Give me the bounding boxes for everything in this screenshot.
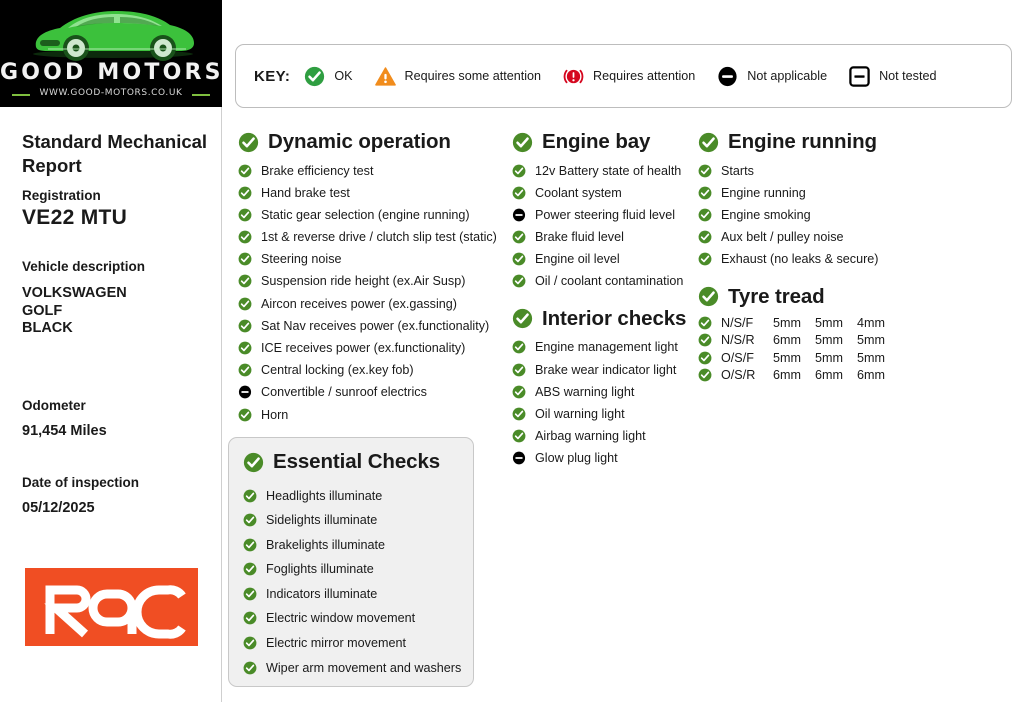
tyre-tread-row: O/S/R6mm6mm6mm bbox=[698, 368, 998, 382]
checklist-item-label: Wiper arm movement and washers bbox=[266, 661, 461, 675]
checklist-item: Brake wear indicator light bbox=[512, 360, 702, 379]
sidebar: GOOD MOTORS WWW.GOOD-MOTORS.CO.UK Standa… bbox=[0, 0, 222, 702]
checklist-engine-bay: 12v Battery state of healthCoolant syste… bbox=[512, 161, 702, 291]
brake-warning-icon bbox=[563, 66, 584, 87]
tyre-position-label: O/S/F bbox=[721, 351, 773, 365]
key-item-not-applicable: Not applicable bbox=[717, 66, 827, 87]
tyre-position-label: N/S/F bbox=[721, 316, 773, 330]
checklist-item-label: Oil / coolant contamination bbox=[535, 274, 683, 288]
key-legend: KEY: OKRequires some attentionRequires a… bbox=[235, 44, 1012, 108]
panel-essential-checks: Essential Checks Headlights illuminateSi… bbox=[228, 437, 474, 687]
key-label: KEY: bbox=[254, 68, 290, 85]
checklist-item: Hand brake test bbox=[238, 183, 500, 202]
section-header: Interior checks bbox=[512, 307, 702, 331]
checklist-item-label: 12v Battery state of health bbox=[535, 164, 681, 178]
checklist-item: Exhaust (no leaks & secure) bbox=[698, 250, 998, 269]
checklist-item-label: Indicators illuminate bbox=[266, 587, 377, 601]
check-circle-icon bbox=[512, 252, 526, 266]
tyre-tread-row: O/S/F5mm5mm5mm bbox=[698, 351, 998, 365]
check-circle-icon bbox=[243, 587, 257, 601]
tyre-depth-inner: 6mm bbox=[857, 368, 899, 382]
section-title: Dynamic operation bbox=[268, 130, 451, 154]
section-status-icon bbox=[512, 132, 533, 153]
check-circle-icon bbox=[512, 407, 526, 421]
section-header: Essential Checks bbox=[243, 450, 473, 474]
section-status-icon bbox=[243, 452, 264, 473]
check-circle-icon bbox=[238, 186, 252, 200]
section-status-icon bbox=[698, 286, 719, 307]
checklist-item-label: Engine running bbox=[721, 186, 806, 200]
inspection-date-value: 05/12/2025 bbox=[22, 500, 95, 518]
check-circle-icon bbox=[243, 452, 264, 473]
checklist-item: Engine running bbox=[698, 183, 998, 202]
tyre-tread-row: N/S/R6mm5mm5mm bbox=[698, 333, 998, 347]
section-header: Dynamic operation bbox=[238, 130, 500, 154]
check-circle-icon bbox=[238, 319, 252, 333]
checklist-item: Wiper arm movement and washers bbox=[243, 658, 473, 677]
rac-logo bbox=[25, 568, 198, 646]
check-circle-icon bbox=[512, 132, 533, 153]
minus-square-icon bbox=[849, 66, 870, 87]
checklist-item-label: Brake fluid level bbox=[535, 230, 624, 244]
tyre-depth-outer: 6mm bbox=[773, 333, 815, 347]
check-circle-icon bbox=[238, 208, 252, 222]
check-circle-icon bbox=[243, 489, 257, 503]
checklist-item: Sat Nav receives power (ex.functionality… bbox=[238, 316, 500, 335]
tyre-position-label: N/S/R bbox=[721, 333, 773, 347]
check-circle-icon bbox=[698, 333, 712, 347]
checklist-item: 12v Battery state of health bbox=[512, 161, 702, 180]
check-circle-icon bbox=[698, 252, 712, 266]
check-circle-icon bbox=[238, 230, 252, 244]
tyre-depth-outer: 5mm bbox=[773, 316, 815, 330]
check-circle-icon bbox=[698, 286, 719, 307]
checklist-item: Oil / coolant contamination bbox=[512, 272, 702, 291]
check-circle-icon bbox=[698, 230, 712, 244]
checklist-item-label: Engine management light bbox=[535, 340, 678, 354]
checklist-item: Sidelights illuminate bbox=[243, 511, 473, 530]
checklist-item: Brake fluid level bbox=[512, 228, 702, 247]
checklist-item: Engine management light bbox=[512, 338, 702, 357]
checklist-item-label: Aux belt / pulley noise bbox=[721, 230, 844, 244]
check-circle-icon bbox=[243, 513, 257, 527]
checklist-item-label: Brakelights illuminate bbox=[266, 538, 385, 552]
checklist-item: Starts bbox=[698, 161, 998, 180]
check-circle-icon bbox=[243, 538, 257, 552]
check-circle-icon bbox=[238, 164, 252, 178]
checklist-item-label: Electric window movement bbox=[266, 611, 415, 625]
checklist-item: Suspension ride height (ex.Air Susp) bbox=[238, 272, 500, 291]
odometer-value: 91,454 Miles bbox=[22, 423, 107, 441]
section-interior-checks: Interior checks Engine management lightB… bbox=[512, 307, 702, 468]
checklist-item-label: Static gear selection (engine running) bbox=[261, 208, 470, 222]
minus-circle-icon bbox=[717, 66, 738, 87]
check-circle-icon bbox=[238, 408, 252, 422]
checklist-item: Aircon receives power (ex.gassing) bbox=[238, 294, 500, 313]
checklist-item-label: Sat Nav receives power (ex.functionality… bbox=[261, 319, 489, 333]
section-tyre-tread: Tyre tread N/S/F5mm5mm4mmN/S/R6mm5mm5mmO… bbox=[698, 285, 998, 383]
checklist-item: Engine oil level bbox=[512, 250, 702, 269]
section-engine-running: Engine running StartsEngine runningEngin… bbox=[698, 130, 998, 269]
check-circle-icon bbox=[304, 66, 325, 87]
checklist-item: Aux belt / pulley noise bbox=[698, 228, 998, 247]
checklist-item-label: ABS warning light bbox=[535, 385, 634, 399]
check-circle-icon bbox=[243, 661, 257, 675]
checklist-item: Airbag warning light bbox=[512, 427, 702, 446]
column-dynamic-operation: Dynamic operation Brake efficiency testH… bbox=[238, 130, 500, 438]
check-circle-icon bbox=[512, 340, 526, 354]
checklist-item-label: Aircon receives power (ex.gassing) bbox=[261, 297, 457, 311]
check-circle-icon bbox=[512, 186, 526, 200]
checklist-dynamic: Brake efficiency testHand brake testStat… bbox=[238, 161, 500, 424]
check-circle-icon bbox=[243, 611, 257, 625]
check-circle-icon bbox=[698, 351, 712, 365]
section-header: Engine bay bbox=[512, 130, 702, 154]
brand-logo-block: GOOD MOTORS WWW.GOOD-MOTORS.CO.UK bbox=[0, 0, 222, 107]
check-circle-icon bbox=[512, 385, 526, 399]
odometer-label: Odometer bbox=[22, 398, 86, 413]
key-items: OKRequires some attentionRequires attent… bbox=[304, 66, 958, 87]
minus-circle-icon bbox=[238, 385, 252, 399]
checklist-item-label: Glow plug light bbox=[535, 451, 618, 465]
check-circle-icon bbox=[512, 429, 526, 443]
checklist-item: Electric window movement bbox=[243, 609, 473, 628]
minus-circle-icon bbox=[512, 208, 526, 222]
registration-value: VE22 MTU bbox=[22, 206, 127, 230]
check-circle-icon bbox=[512, 164, 526, 178]
checklist-item: Horn bbox=[238, 405, 500, 424]
checklist-item: Coolant system bbox=[512, 183, 702, 202]
key-item-label: OK bbox=[334, 69, 352, 83]
tyre-tread-row: N/S/F5mm5mm4mm bbox=[698, 316, 998, 330]
tyre-depth-inner: 5mm bbox=[857, 333, 899, 347]
section-engine-bay: Engine bay 12v Battery state of healthCo… bbox=[512, 130, 702, 291]
section-title: Engine bay bbox=[542, 130, 650, 154]
checklist-item: Foglights illuminate bbox=[243, 560, 473, 579]
warning-triangle-icon bbox=[375, 66, 396, 87]
checklist-item: Central locking (ex.key fob) bbox=[238, 361, 500, 380]
checklist-item-label: 1st & reverse drive / clutch slip test (… bbox=[261, 230, 497, 244]
checklist-item-label: Sidelights illuminate bbox=[266, 513, 377, 527]
section-header: Tyre tread bbox=[698, 285, 998, 309]
section-status-icon bbox=[238, 132, 259, 153]
tyre-depth-middle: 5mm bbox=[815, 316, 857, 330]
page-title: Standard Mechanical Report bbox=[22, 130, 212, 177]
checklist-item: Convertible / sunroof electrics bbox=[238, 383, 500, 402]
section-title: Tyre tread bbox=[728, 285, 825, 309]
column-engine-bay-interior: Engine bay 12v Battery state of healthCo… bbox=[512, 130, 702, 482]
checklist-item-label: Engine oil level bbox=[535, 252, 620, 266]
check-circle-icon bbox=[243, 636, 257, 650]
key-item-ok: OK bbox=[304, 66, 352, 87]
tyre-tread-table: N/S/F5mm5mm4mmN/S/R6mm5mm5mmO/S/F5mm5mm5… bbox=[698, 316, 998, 383]
section-title: Essential Checks bbox=[273, 450, 440, 474]
checklist-item: Steering noise bbox=[238, 250, 500, 269]
brand-name: GOOD MOTORS bbox=[0, 60, 222, 85]
checklist-item-label: Central locking (ex.key fob) bbox=[261, 363, 414, 377]
tyre-depth-inner: 5mm bbox=[857, 351, 899, 365]
checklist-item-label: ICE receives power (ex.functionality) bbox=[261, 341, 465, 355]
tyre-depth-middle: 6mm bbox=[815, 368, 857, 382]
check-circle-icon bbox=[238, 297, 252, 311]
key-item-label: Not tested bbox=[879, 69, 936, 83]
checklist-item-label: Brake efficiency test bbox=[261, 164, 373, 178]
key-item-label: Requires some attention bbox=[405, 69, 542, 83]
section-title: Interior checks bbox=[542, 307, 686, 331]
check-circle-icon bbox=[512, 308, 533, 329]
tyre-depth-outer: 6mm bbox=[773, 368, 815, 382]
checklist-item-label: Suspension ride height (ex.Air Susp) bbox=[261, 274, 465, 288]
checklist-item: Indicators illuminate bbox=[243, 584, 473, 603]
check-circle-icon bbox=[698, 186, 712, 200]
check-circle-icon bbox=[238, 274, 252, 288]
checklist-interior: Engine management lightBrake wear indica… bbox=[512, 338, 702, 468]
checklist-item-label: Steering noise bbox=[261, 252, 342, 266]
checklist-item-label: Headlights illuminate bbox=[266, 489, 382, 503]
inspection-date-label: Date of inspection bbox=[22, 475, 139, 490]
vehicle-description-value: VOLKSWAGEN GOLF BLACK bbox=[22, 285, 127, 338]
checklist-item: Glow plug light bbox=[512, 449, 702, 468]
checklist-item-label: Hand brake test bbox=[261, 186, 350, 200]
check-circle-icon bbox=[698, 132, 719, 153]
section-title: Engine running bbox=[728, 130, 877, 154]
check-circle-icon bbox=[512, 363, 526, 377]
checklist-item: Brake efficiency test bbox=[238, 161, 500, 180]
checklist-item: Power steering fluid level bbox=[512, 205, 702, 224]
checklist-item-label: Brake wear indicator light bbox=[535, 363, 676, 377]
check-circle-icon bbox=[698, 316, 712, 330]
tyre-depth-middle: 5mm bbox=[815, 333, 857, 347]
tyre-depth-middle: 5mm bbox=[815, 351, 857, 365]
check-circle-icon bbox=[698, 164, 712, 178]
checklist-item-label: Starts bbox=[721, 164, 754, 178]
checklist-item-label: Power steering fluid level bbox=[535, 208, 675, 222]
checklist-item-label: Electric mirror movement bbox=[266, 636, 406, 650]
checklist-item: ICE receives power (ex.functionality) bbox=[238, 339, 500, 358]
section-header: Engine running bbox=[698, 130, 998, 154]
key-item-some-attention: Requires some attention bbox=[375, 66, 542, 87]
checklist-item-label: Airbag warning light bbox=[535, 429, 646, 443]
check-circle-icon bbox=[512, 274, 526, 288]
check-circle-icon bbox=[243, 562, 257, 576]
checklist-engine-running: StartsEngine runningEngine smokingAux be… bbox=[698, 161, 998, 269]
tyre-position-label: O/S/R bbox=[721, 368, 773, 382]
checklist-item-label: Exhaust (no leaks & secure) bbox=[721, 252, 879, 266]
checklist-essential: Headlights illuminateSidelights illumina… bbox=[243, 486, 473, 677]
check-circle-icon bbox=[698, 208, 712, 222]
checklist-item: ABS warning light bbox=[512, 382, 702, 401]
check-circle-icon bbox=[238, 363, 252, 377]
checklist-item-label: Coolant system bbox=[535, 186, 622, 200]
brand-url: WWW.GOOD-MOTORS.CO.UK bbox=[0, 88, 222, 98]
checklist-item-label: Foglights illuminate bbox=[266, 562, 374, 576]
checklist-item-label: Engine smoking bbox=[721, 208, 811, 222]
checklist-item: 1st & reverse drive / clutch slip test (… bbox=[238, 228, 500, 247]
checklist-item: Brakelights illuminate bbox=[243, 535, 473, 554]
check-circle-icon bbox=[238, 341, 252, 355]
tyre-depth-outer: 5mm bbox=[773, 351, 815, 365]
key-item-label: Requires attention bbox=[593, 69, 695, 83]
key-item-label: Not applicable bbox=[747, 69, 827, 83]
check-circle-icon bbox=[238, 132, 259, 153]
check-circle-icon bbox=[698, 368, 712, 382]
checklist-item-label: Oil warning light bbox=[535, 407, 625, 421]
column-engine-running-tyres: Engine running StartsEngine runningEngin… bbox=[698, 130, 998, 396]
key-item-attention: Requires attention bbox=[563, 66, 695, 87]
check-circle-icon bbox=[512, 230, 526, 244]
section-dynamic-operation: Dynamic operation Brake efficiency testH… bbox=[238, 130, 500, 424]
checklist-item: Static gear selection (engine running) bbox=[238, 205, 500, 224]
vehicle-description-label: Vehicle description bbox=[22, 259, 145, 274]
registration-label: Registration bbox=[22, 188, 101, 203]
check-circle-icon bbox=[238, 252, 252, 266]
checklist-item: Oil warning light bbox=[512, 405, 702, 424]
section-status-icon bbox=[698, 132, 719, 153]
checklist-item: Headlights illuminate bbox=[243, 486, 473, 505]
key-item-not-tested: Not tested bbox=[849, 66, 936, 87]
minus-circle-icon bbox=[512, 451, 526, 465]
green-sports-car-icon bbox=[18, 3, 208, 63]
checklist-item: Engine smoking bbox=[698, 205, 998, 224]
checklist-item: Electric mirror movement bbox=[243, 634, 473, 653]
tyre-depth-inner: 4mm bbox=[857, 316, 899, 330]
checklist-item-label: Convertible / sunroof electrics bbox=[261, 385, 427, 399]
checklist-item-label: Horn bbox=[261, 408, 288, 422]
section-status-icon bbox=[512, 308, 533, 329]
